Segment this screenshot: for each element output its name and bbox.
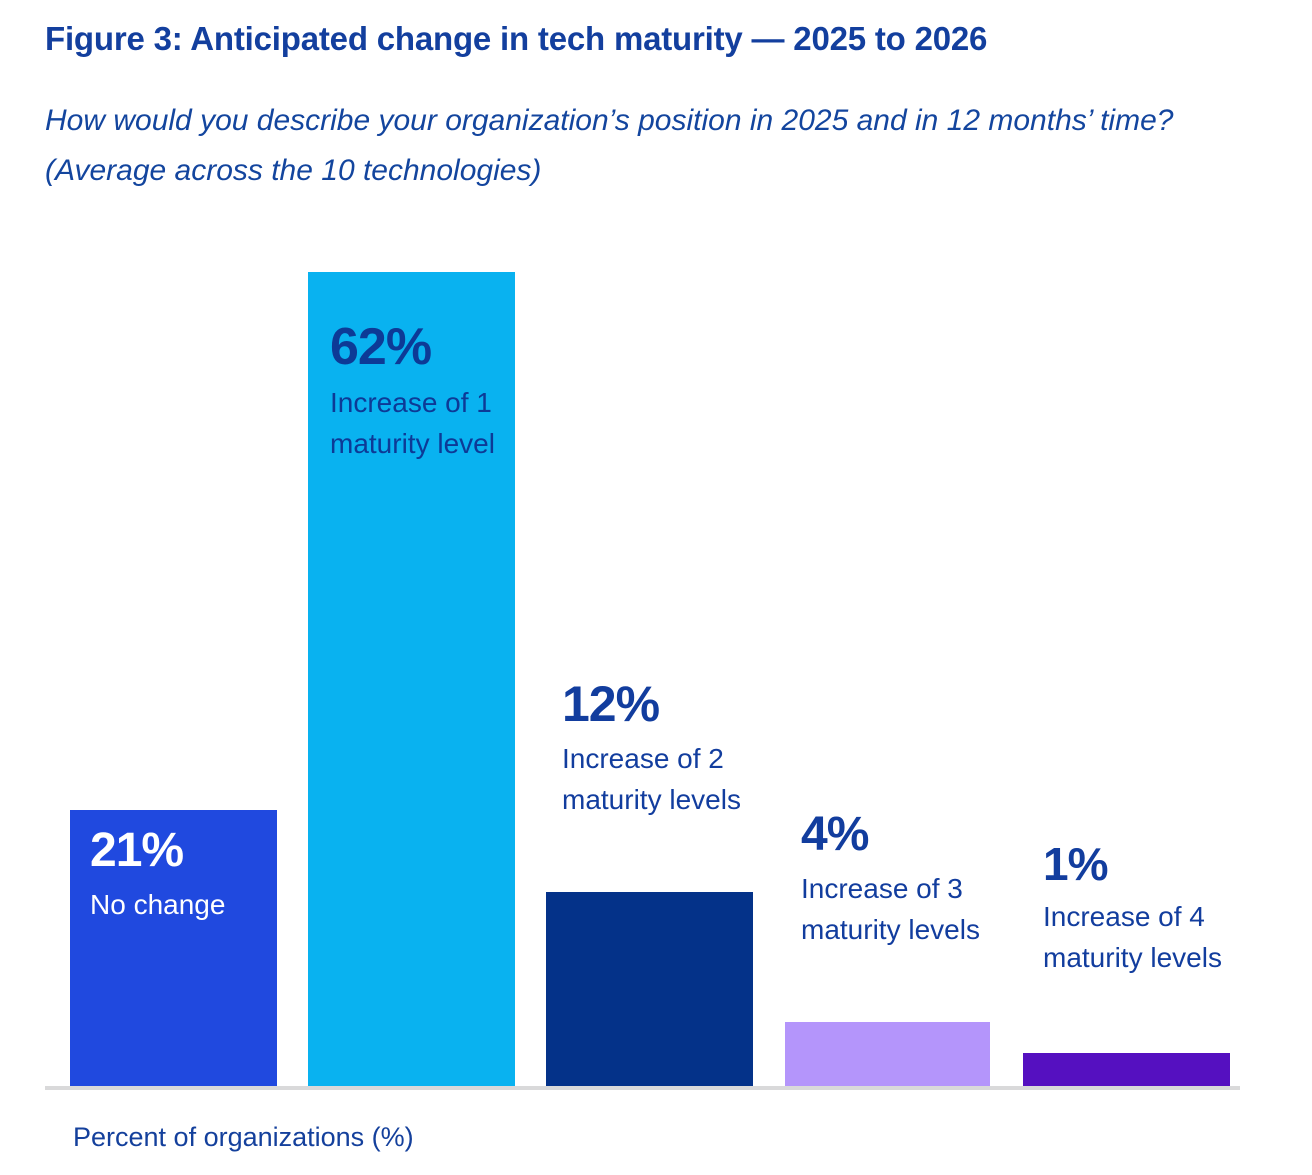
bar-label-increase-4-levels: 1% Increase of 4 maturity levels [1043, 838, 1268, 978]
bar-chart: 21% No change 62% Increase of 1 maturity… [0, 0, 1312, 1175]
bar-caption-increase-1-level: Increase of 1 maturity level [330, 382, 507, 464]
bar-label-increase-3-levels: 4% Increase of 3 maturity levels [801, 808, 1016, 950]
bar-label-increase-2-levels: 12% Increase of 2 maturity levels [562, 676, 777, 820]
axis-baseline [45, 1086, 1240, 1090]
bar-value-increase-4-levels: 1% [1043, 838, 1268, 890]
axis-label-x: Percent of organizations (%) [73, 1122, 414, 1153]
bar-caption-increase-4-levels: Increase of 4 maturity levels [1043, 896, 1268, 978]
bar-caption-no-change: No change [90, 884, 269, 925]
bar-increase-3-levels [785, 1022, 990, 1087]
bar-caption-increase-2-levels: Increase of 2 maturity levels [562, 738, 777, 820]
bar-increase-4-levels [1023, 1053, 1230, 1087]
bar-increase-1-level: 62% Increase of 1 maturity level [308, 272, 515, 1087]
bar-no-change: 21% No change [70, 810, 277, 1087]
bar-increase-2-levels [546, 892, 753, 1087]
bar-value-increase-3-levels: 4% [801, 808, 1016, 862]
bar-value-increase-2-levels: 12% [562, 676, 777, 732]
bar-value-increase-1-level: 62% [330, 318, 507, 376]
bar-value-no-change: 21% [90, 824, 269, 878]
bar-label-increase-1-level: 62% Increase of 1 maturity level [330, 318, 507, 464]
bar-label-no-change: 21% No change [90, 824, 269, 925]
bar-caption-increase-3-levels: Increase of 3 maturity levels [801, 868, 1016, 950]
